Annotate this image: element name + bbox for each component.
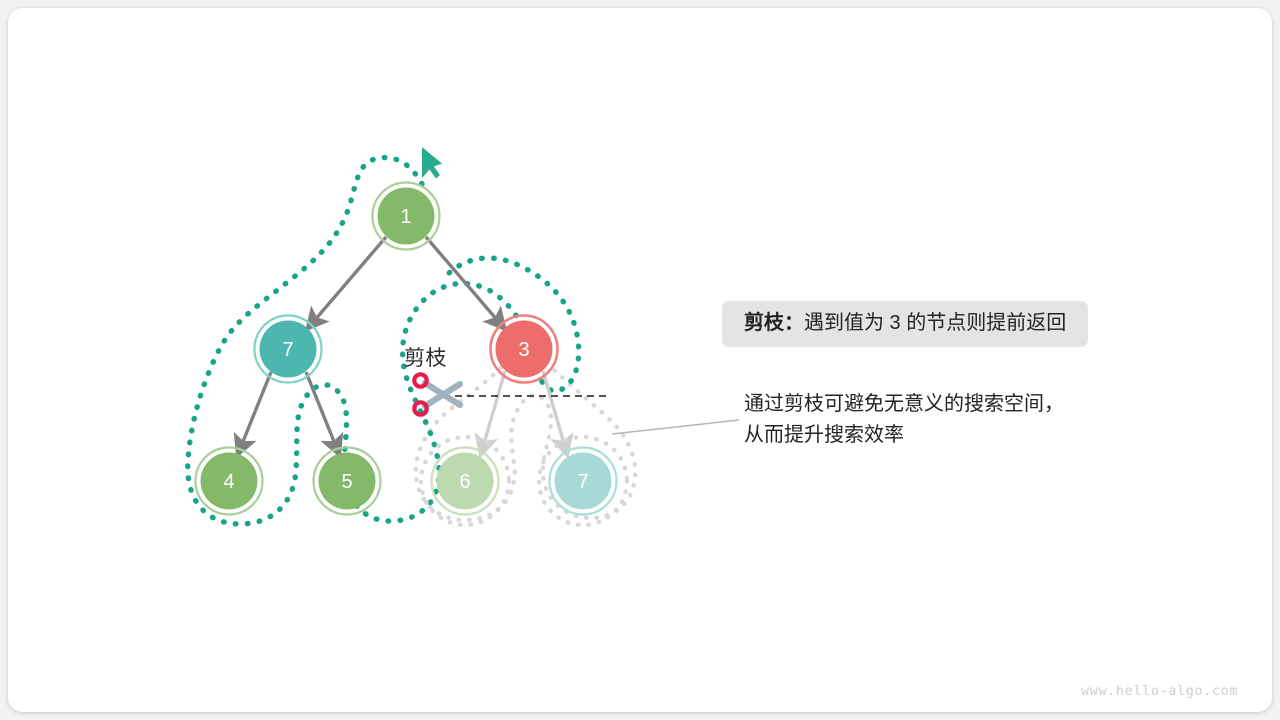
tree-node-6-skipped[interactable]: 6 — [432, 448, 499, 515]
description-leader-line — [612, 420, 739, 434]
tree-node-7-left[interactable]: 7 — [255, 316, 322, 383]
tree-node-7-right-skipped[interactable]: 7 — [550, 448, 617, 515]
edge-1-to-3 — [426, 237, 504, 328]
prune-callout-box: 剪枝：遇到值为 3 的节点则提前返回 — [722, 301, 1088, 347]
prune-label: 剪枝 — [404, 342, 447, 372]
tree-node-4[interactable]: 4 — [196, 448, 263, 515]
prune-callout-body: 遇到值为 3 的节点则提前返回 — [804, 312, 1066, 334]
site-watermark: www.hello-algo.com — [1081, 683, 1238, 699]
node-4-label: 4 — [223, 471, 234, 493]
edge-3-to-7r — [543, 371, 567, 454]
diagram-card: 1 7 3 4 5 — [8, 8, 1272, 712]
cursor-arrow-icon — [422, 147, 442, 179]
description-line-2: 从而提升搜索效率 — [744, 420, 1064, 451]
prune-callout-prefix: 剪枝： — [744, 312, 804, 334]
edge-7l-to-5 — [306, 372, 339, 454]
node-3-label: 3 — [518, 339, 529, 361]
screenshot-canvas: 1 7 3 4 5 — [0, 0, 1280, 720]
description-text: 通过剪枝可避免无意义的搜索空间， 从而提升搜索效率 — [744, 389, 1064, 451]
node-1-label: 1 — [400, 206, 411, 228]
tree-diagram-svg: 1 7 3 4 5 — [8, 8, 1272, 712]
tree-node-3-pruned[interactable]: 3 — [491, 316, 558, 383]
node-7r-label: 7 — [577, 471, 588, 493]
node-7l-label: 7 — [282, 339, 293, 361]
tree-node-5[interactable]: 5 — [314, 448, 381, 515]
description-line-1: 通过剪枝可避免无意义的搜索空间， — [744, 389, 1064, 420]
edge-7l-to-4 — [238, 372, 271, 454]
node-6-label: 6 — [459, 471, 470, 493]
tree-node-1[interactable]: 1 — [373, 183, 440, 250]
node-5-label: 5 — [341, 471, 352, 493]
